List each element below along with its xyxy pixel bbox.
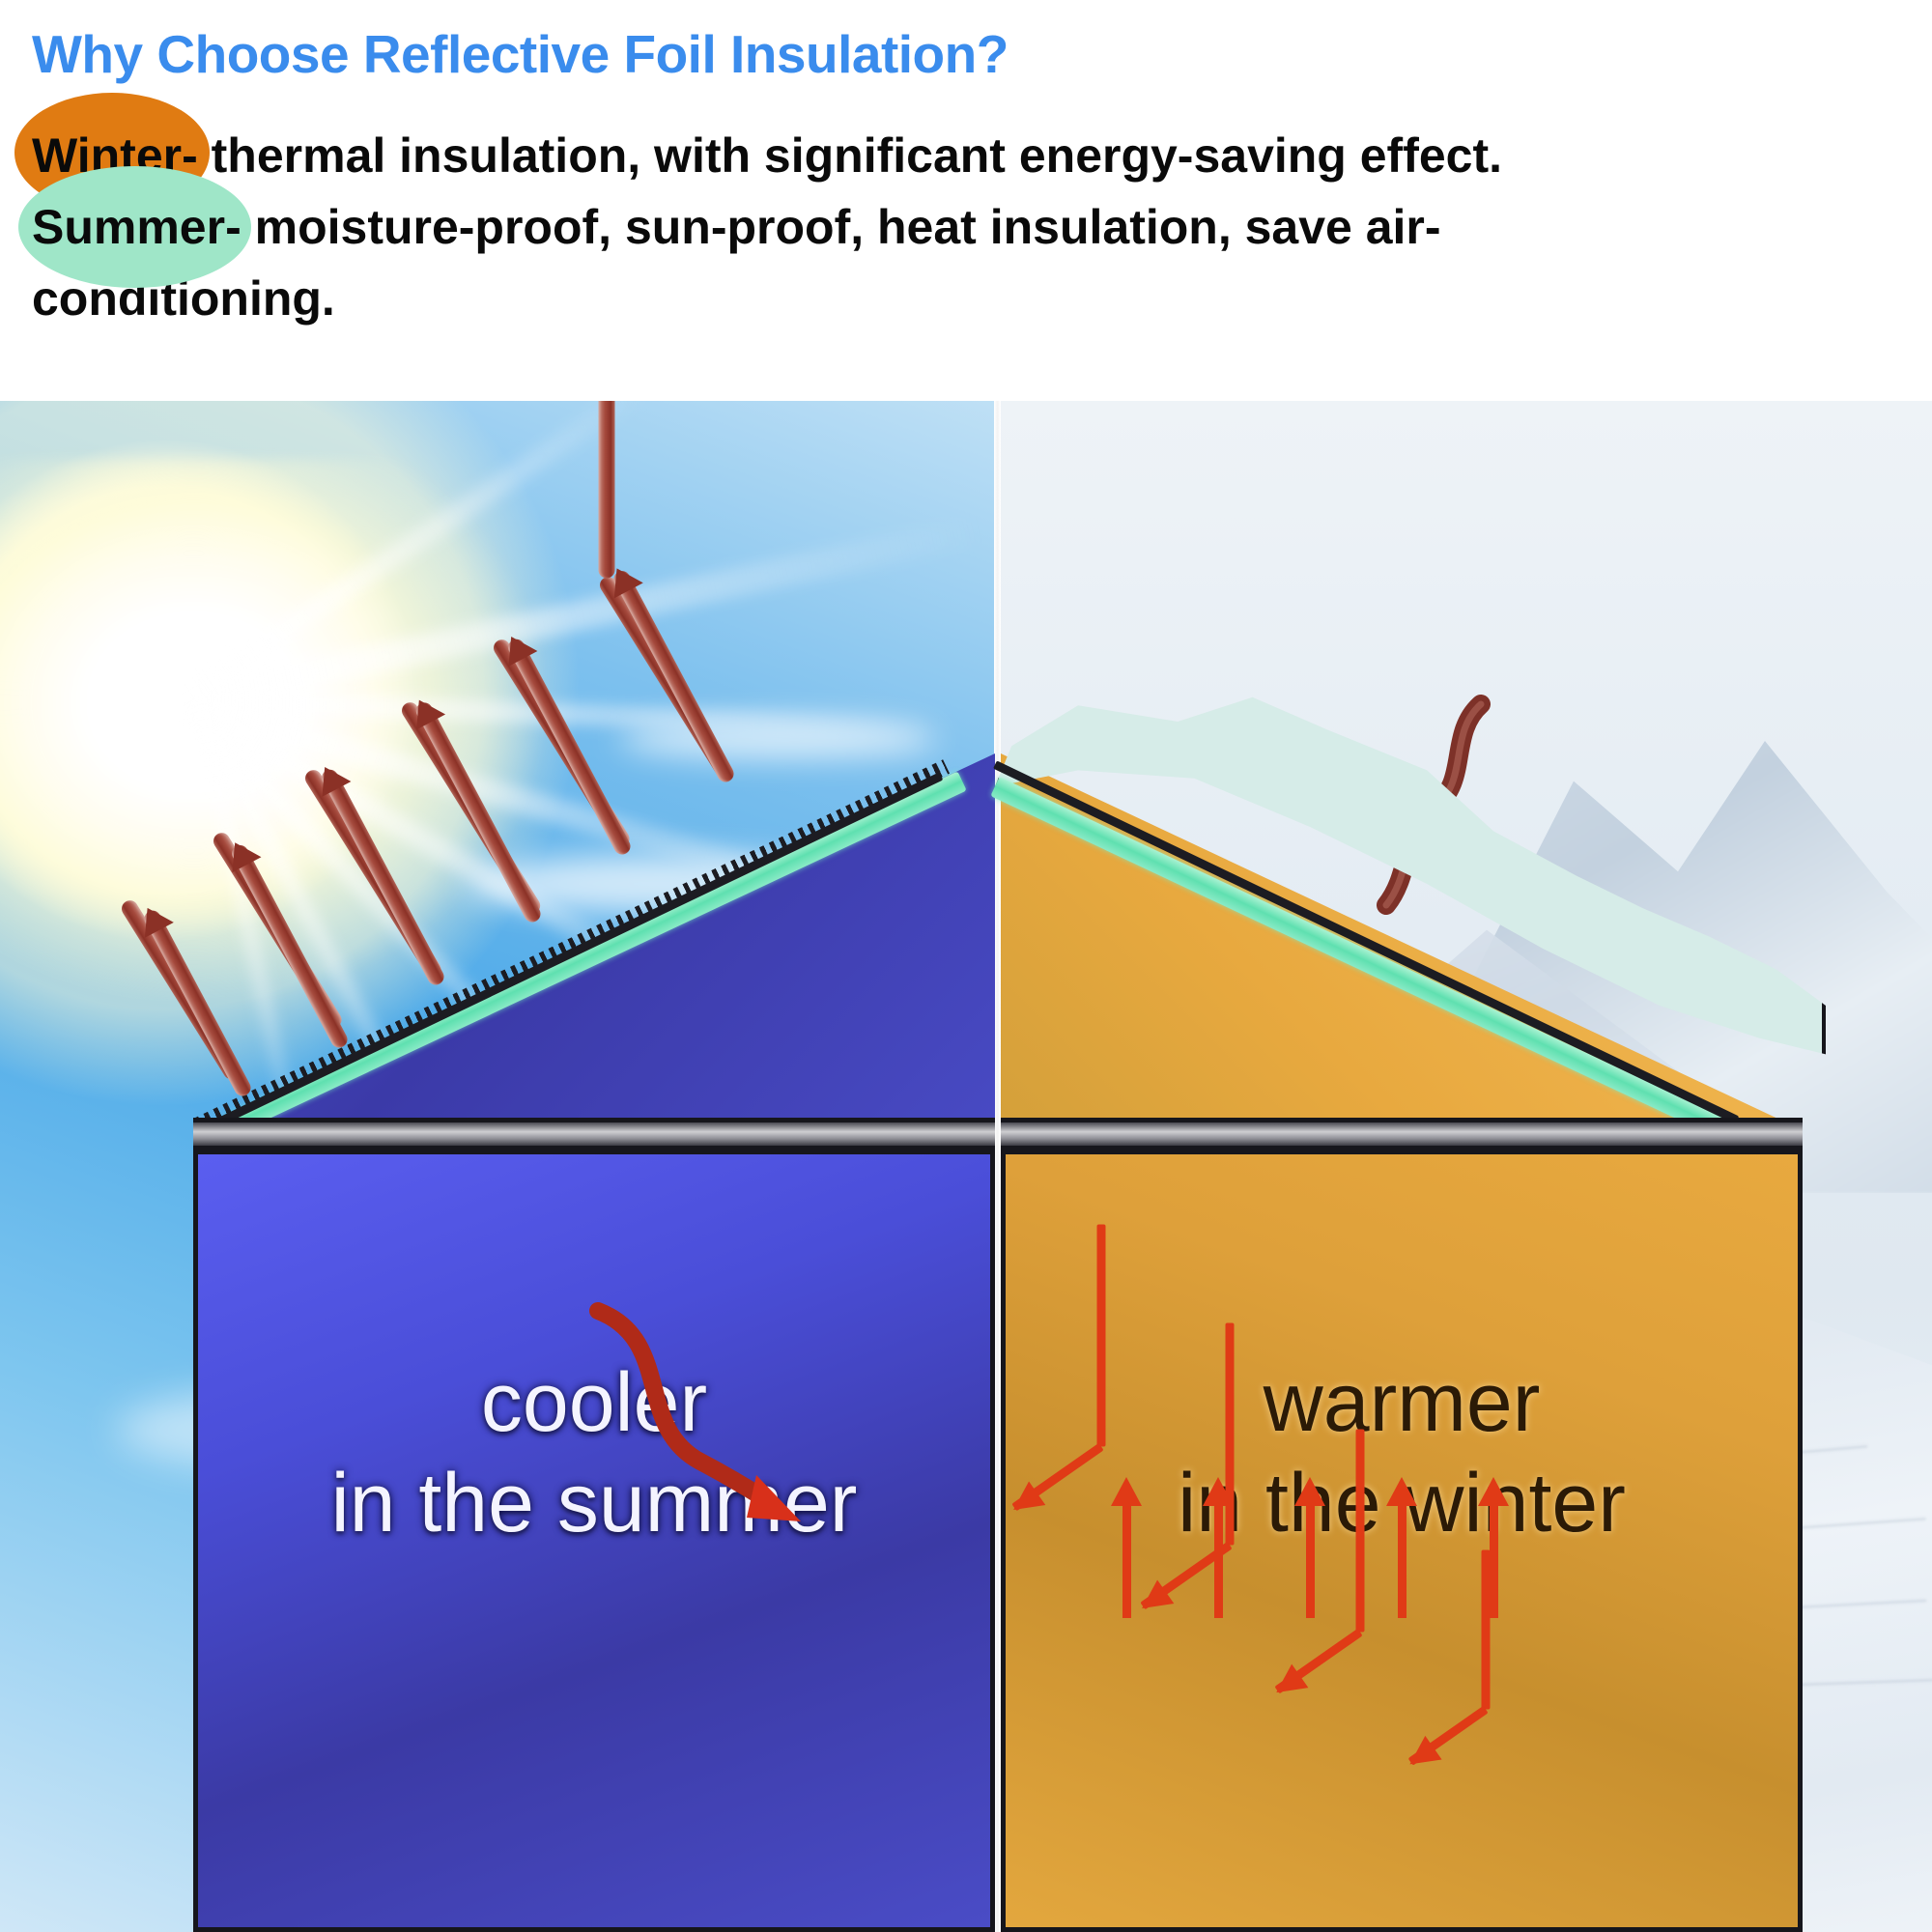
insulation-illustration: cooler in the summer warmer in the winte… <box>0 401 1932 1932</box>
benefit-line-summer: Summer- moisture-proof, sun-proof, heat … <box>32 191 1906 263</box>
heat-rising-stem <box>1226 1323 1235 1546</box>
winter-description: thermal insulation, with significant ene… <box>198 128 1502 183</box>
sunray-reflected <box>319 767 446 988</box>
sunray-vertical <box>599 401 615 579</box>
summer-ceiling <box>193 1118 995 1151</box>
sunray-reflected <box>413 699 544 924</box>
warm-air-arrow-up <box>1490 1502 1498 1618</box>
house-cutaway: cooler in the summer warmer in the winte… <box>0 401 1932 1932</box>
winter-ceiling <box>1001 1118 1803 1151</box>
page-title: Why Choose Reflective Foil Insulation? <box>32 23 1009 85</box>
warm-air-arrow-up <box>1306 1502 1315 1618</box>
benefit-line-winter: Winter- thermal insulation, with signifi… <box>32 120 1906 191</box>
header-section: Why Choose Reflective Foil Insulation? W… <box>0 0 1932 401</box>
sunray-incoming <box>211 830 345 1031</box>
sunray-incoming <box>399 699 544 917</box>
sunray-incoming <box>597 574 736 783</box>
poster-page: Why Choose Reflective Foil Insulation? W… <box>0 0 1932 1932</box>
sunray-incoming <box>302 767 444 980</box>
heat-rising-stem <box>1097 1225 1106 1447</box>
benefit-line-wrap: conditioning. <box>32 263 1906 334</box>
warm-air-arrow-up <box>1214 1502 1223 1618</box>
warm-air-arrow-up <box>1398 1502 1406 1618</box>
summer-label: Summer- <box>32 200 241 254</box>
warm-air-arrow-up <box>1122 1502 1131 1618</box>
sunray-reflected <box>142 908 254 1099</box>
summer-highlight: Summer- <box>32 191 241 263</box>
sunray-incoming <box>491 637 633 850</box>
sunray-reflected <box>229 842 350 1050</box>
sunray-reflected <box>611 568 736 784</box>
summer-deflected-heat-arrow <box>584 1299 855 1550</box>
winter-room-label-line1: warmer <box>1006 1352 1798 1453</box>
sunray-reflected <box>505 637 633 858</box>
benefits-text: Winter- thermal insulation, with signifi… <box>32 120 1906 334</box>
sunray-incoming <box>119 897 242 1082</box>
heat-rising-stem <box>1356 1430 1365 1633</box>
summer-description: moisture-proof, sun-proof, heat insulati… <box>241 200 1441 254</box>
